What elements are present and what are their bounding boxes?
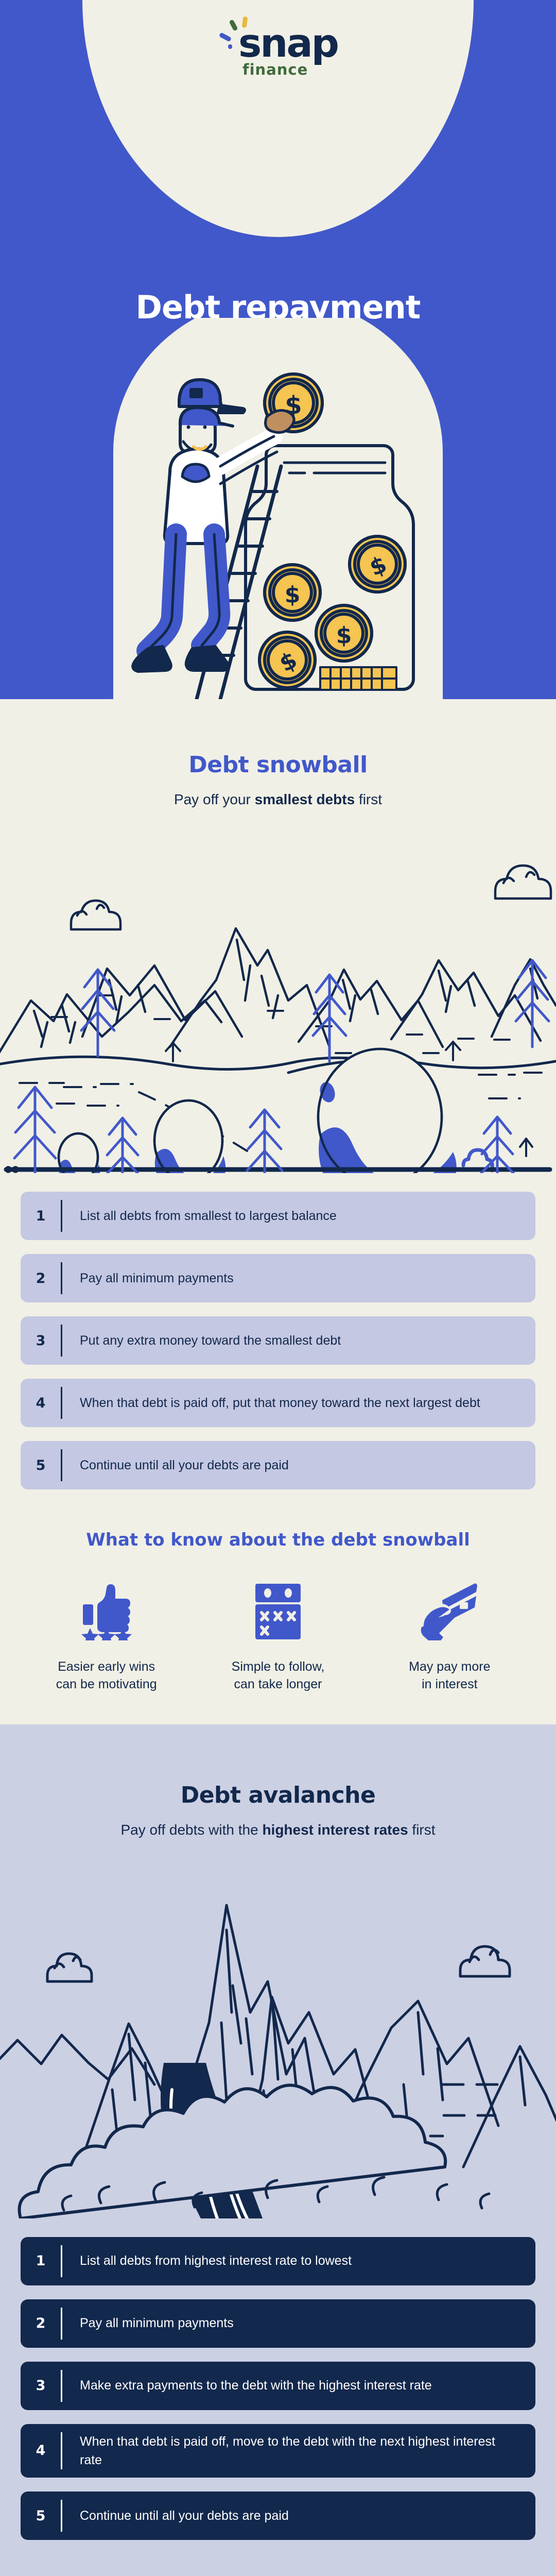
step-text: List all debts from smallest to largest … [62,1207,535,1225]
debt-snowball-section: Debt snowball Pay off your smallest debt… [0,699,556,1724]
avalanche-subtitle-bold: highest interest rates [262,1822,408,1838]
header-logo: snap finance [0,15,556,85]
label-line-1: May pay more [369,1658,530,1676]
calendar-x-marks-icon [197,1580,358,1643]
logo-tagline: finance [242,61,308,78]
logo-brand-name: snap [238,24,338,63]
step-number: 5 [21,2508,61,2524]
snowball-subtitle-bold: smallest debts [255,791,355,807]
step-text: List all debts from highest interest rat… [62,2251,535,2270]
what-to-know-label: Easier early wins can be motivating [26,1658,187,1693]
avalanche-subtitle-post: first [408,1822,436,1838]
avalanche-subtitle-pre: Pay off debts with the [120,1822,262,1838]
step-text: Make extra payments to the debt with the… [62,2376,535,2395]
hero-illustration-man-ladder-jar: $ $ $ $ [88,318,468,699]
thumbs-up-stars-icon [26,1580,187,1643]
snowball-title: Debt snowball [0,752,556,778]
avalanche-steps-list: 1 List all debts from highest interest r… [21,2237,535,2540]
step-item[interactable]: 2 Pay all minimum payments [21,1254,535,1302]
step-text: Pay all minimum payments [62,1269,535,1287]
label-line-2: can take longer [197,1676,358,1693]
step-number: 1 [21,2253,61,2269]
step-number: 3 [21,2378,61,2394]
step-item[interactable]: 1 List all debts from smallest to larges… [21,1192,535,1240]
step-item[interactable]: 1 List all debts from highest interest r… [21,2237,535,2285]
snap-finance-logo: snap finance [219,15,337,85]
step-number: 2 [21,1270,61,1286]
svg-text:$: $ [336,622,352,649]
infographic-page: snap finance Debt repayment strategies W… [0,0,556,2576]
debt-avalanche-section: Debt avalanche Pay off debts with the hi… [0,1724,556,2576]
step-item[interactable]: 5 Continue until all your debts are paid [21,2492,535,2540]
snowball-steps-list: 1 List all debts from smallest to larges… [21,1192,535,1489]
logo-spark-green-icon [229,19,238,31]
what-to-know-cell: Easier early wins can be motivating [21,1580,192,1693]
snowball-subtitle-post: first [355,791,382,807]
snowball-subtitle-pre: Pay off your [174,791,255,807]
what-to-know-cell: Simple to follow, can take longer [192,1580,363,1693]
what-to-know-label: Simple to follow, can take longer [197,1658,358,1693]
step-item[interactable]: 3 Make extra payments to the debt with t… [21,2362,535,2410]
step-item[interactable]: 4 When that debt is paid off, move to th… [21,2424,535,2478]
step-number: 3 [21,1333,61,1349]
label-line-2: can be motivating [26,1676,187,1693]
step-text: Pay all minimum payments [62,2314,535,2332]
label-line-2: in interest [369,1676,530,1693]
svg-text:$: $ [285,582,301,608]
snowball-illustration-scene [0,831,556,1173]
logo-spark-dot-icon [228,44,232,49]
step-text: Put any extra money toward the smallest … [62,1331,535,1350]
snowball-what-to-know-grid: Easier early wins can be motivating [21,1580,535,1693]
what-to-know-label: May pay more in interest [369,1658,530,1693]
label-line-1: Easier early wins [26,1658,187,1676]
hand-holding-credit-card-icon [369,1580,530,1643]
step-item[interactable]: 5 Continue until all your debts are paid [21,1441,535,1489]
step-item[interactable]: 3 Put any extra money toward the smalles… [21,1316,535,1365]
hero-section: snap finance Debt repayment strategies W… [0,0,556,699]
logo-spark-blue-icon [219,32,232,42]
step-text: When that debt is paid off, move to the … [62,2432,535,2470]
avalanche-title: Debt avalanche [0,1782,556,1808]
avalanche-mountains-illustration [0,1858,556,2218]
what-to-know-cell: May pay more in interest [364,1580,535,1693]
step-number: 5 [21,1458,61,1473]
step-number: 4 [21,1395,61,1411]
step-number: 2 [21,2315,61,2331]
snowball-mountains-illustration [0,831,556,1173]
step-text: Continue until all your debts are paid [62,1456,535,1475]
avalanche-subtitle: Pay off debts with the highest interest … [0,1822,556,1838]
snowball-what-to-know-title: What to know about the debt snowball [0,1530,556,1550]
avalanche-illustration-scene [0,1858,556,2218]
step-number: 4 [21,2443,61,2459]
step-item[interactable]: 2 Pay all minimum payments [21,2299,535,2348]
step-number: 1 [21,1208,61,1224]
snowball-subtitle: Pay off your smallest debts first [0,791,556,808]
step-text: Continue until all your debts are paid [62,2506,535,2525]
step-item[interactable]: 4 When that debt is paid off, put that m… [21,1379,535,1427]
label-line-1: Simple to follow, [197,1658,358,1676]
step-text: When that debt is paid off, put that mon… [62,1394,535,1412]
